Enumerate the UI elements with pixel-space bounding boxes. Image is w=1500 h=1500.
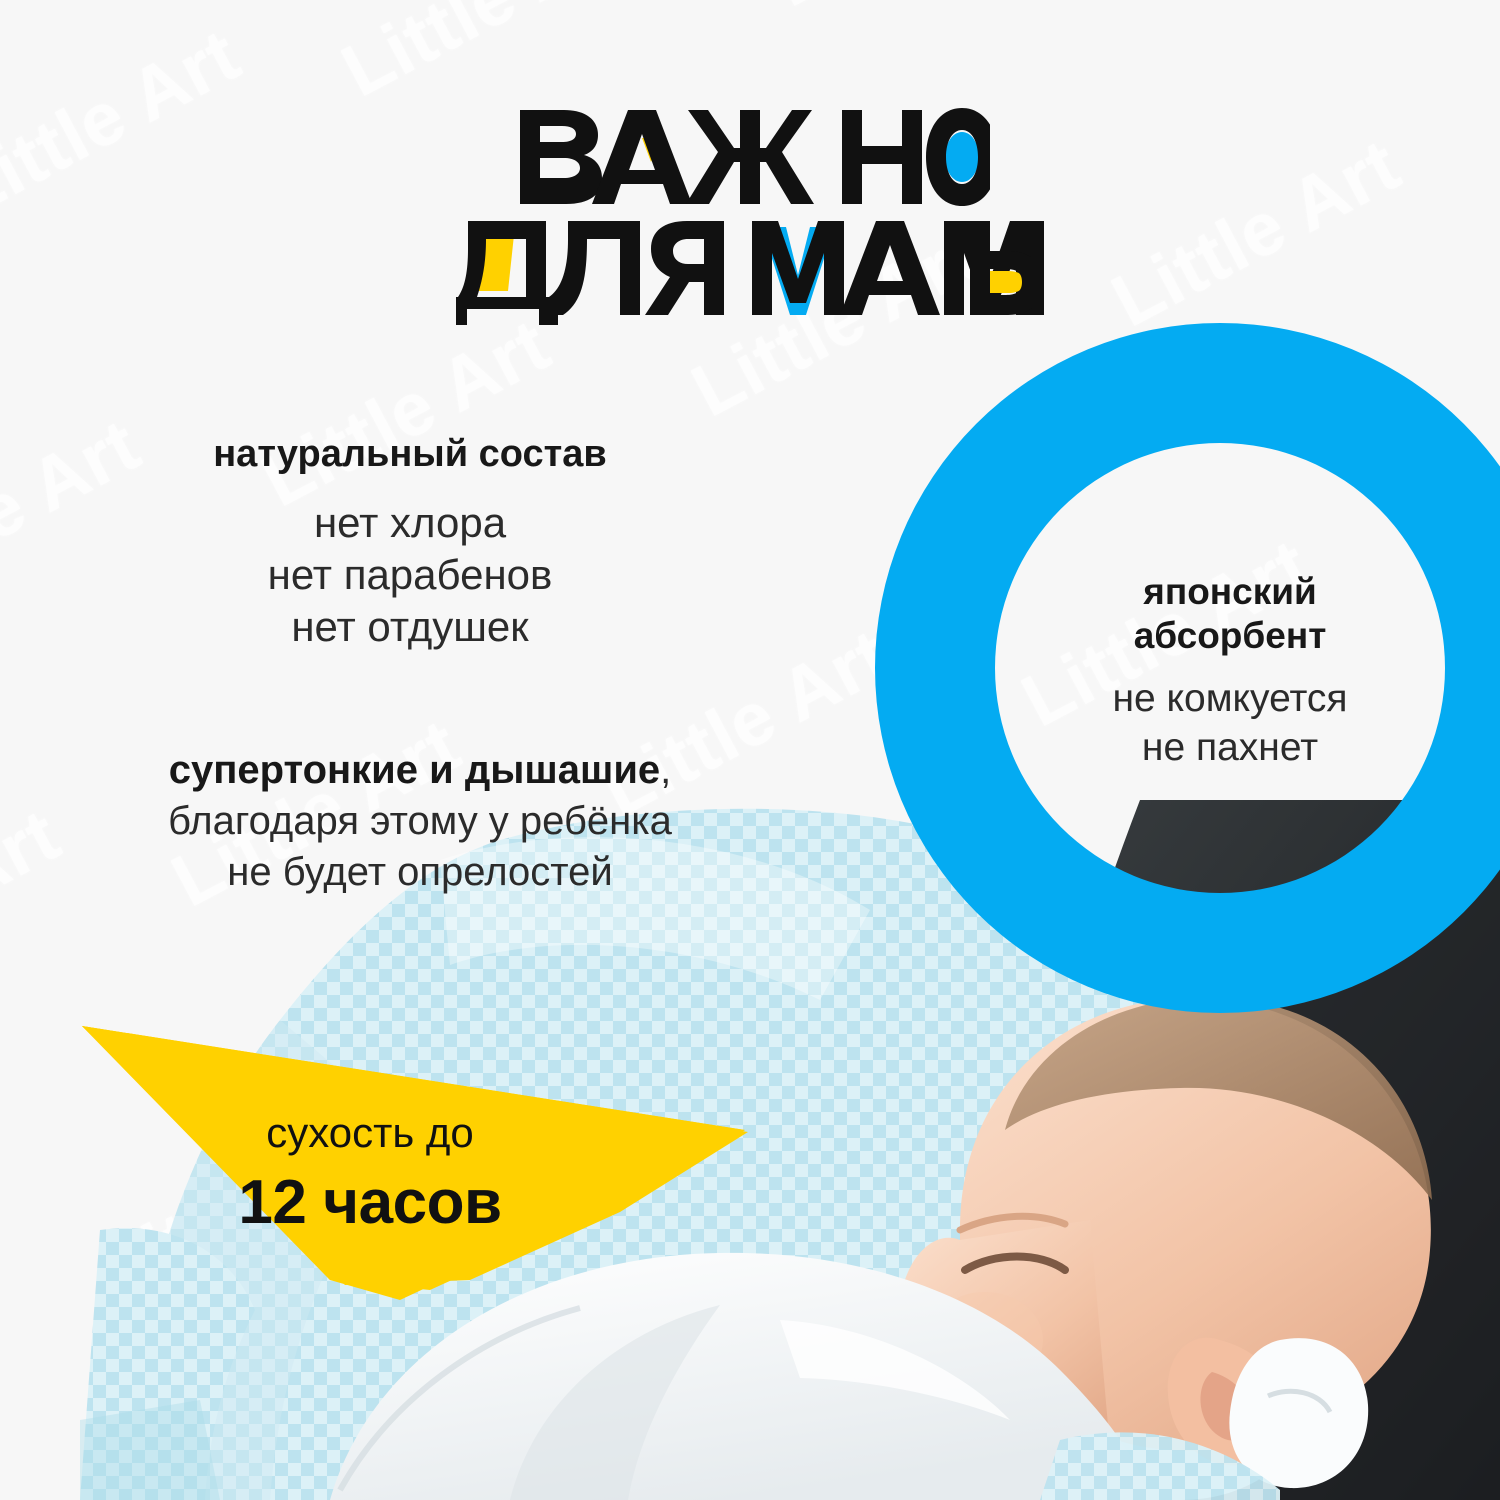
dryness-badge-label: сухость до	[150, 1110, 590, 1156]
title-line-1-art	[510, 102, 990, 206]
feature-heading-line: абсорбент	[1050, 614, 1410, 658]
title-line-1	[0, 100, 1500, 206]
watermark-text: Little Art	[328, 0, 643, 113]
watermark-text: Little Art	[758, 0, 1073, 23]
feature-heading-breathable-line: супертонкие и дышашие,	[80, 745, 760, 796]
feature-body-breathable: супертонкие и дышашие, благодаря этому у…	[80, 745, 760, 899]
title-line-2	[0, 212, 1500, 326]
feature-heading-absorbent: японский абсорбент	[1050, 570, 1410, 659]
feature-body-absorbent: не комкуется не пахнет	[1050, 675, 1410, 773]
page-title	[0, 100, 1500, 325]
feature-body-natural: нет хлора нет парабенов нет отдушек	[110, 497, 710, 653]
poster-canvas: Little Art Little Art Little Art Little …	[0, 0, 1500, 1500]
feature-line: не будет опрелостей	[80, 847, 760, 898]
title-line-2-art	[456, 213, 1044, 325]
dryness-badge: сухость до 12 часов	[150, 1110, 590, 1235]
feature-heading-comma: ,	[660, 748, 671, 792]
feature-heading-line: японский	[1050, 570, 1410, 614]
dryness-badge-value: 12 часов	[150, 1170, 590, 1235]
feature-line: нет парабенов	[110, 549, 710, 601]
feature-line: нет хлора	[110, 497, 710, 549]
feature-heading-natural: натуральный состав	[110, 432, 710, 477]
feature-block-natural: натуральный состав нет хлора нет парабен…	[110, 432, 710, 653]
feature-line: не комкуется	[1050, 675, 1410, 724]
feature-line: нет отдушек	[110, 601, 710, 653]
feature-block-absorbent: японский абсорбент не комкуется не пахне…	[1050, 570, 1410, 772]
feature-line: благодаря этому у ребёнка	[80, 796, 760, 847]
feature-block-breathable: супертонкие и дышашие, благодаря этому у…	[80, 745, 760, 899]
feature-line: не пахнет	[1050, 724, 1410, 773]
feature-heading-breathable: супертонкие и дышашие	[169, 748, 660, 792]
